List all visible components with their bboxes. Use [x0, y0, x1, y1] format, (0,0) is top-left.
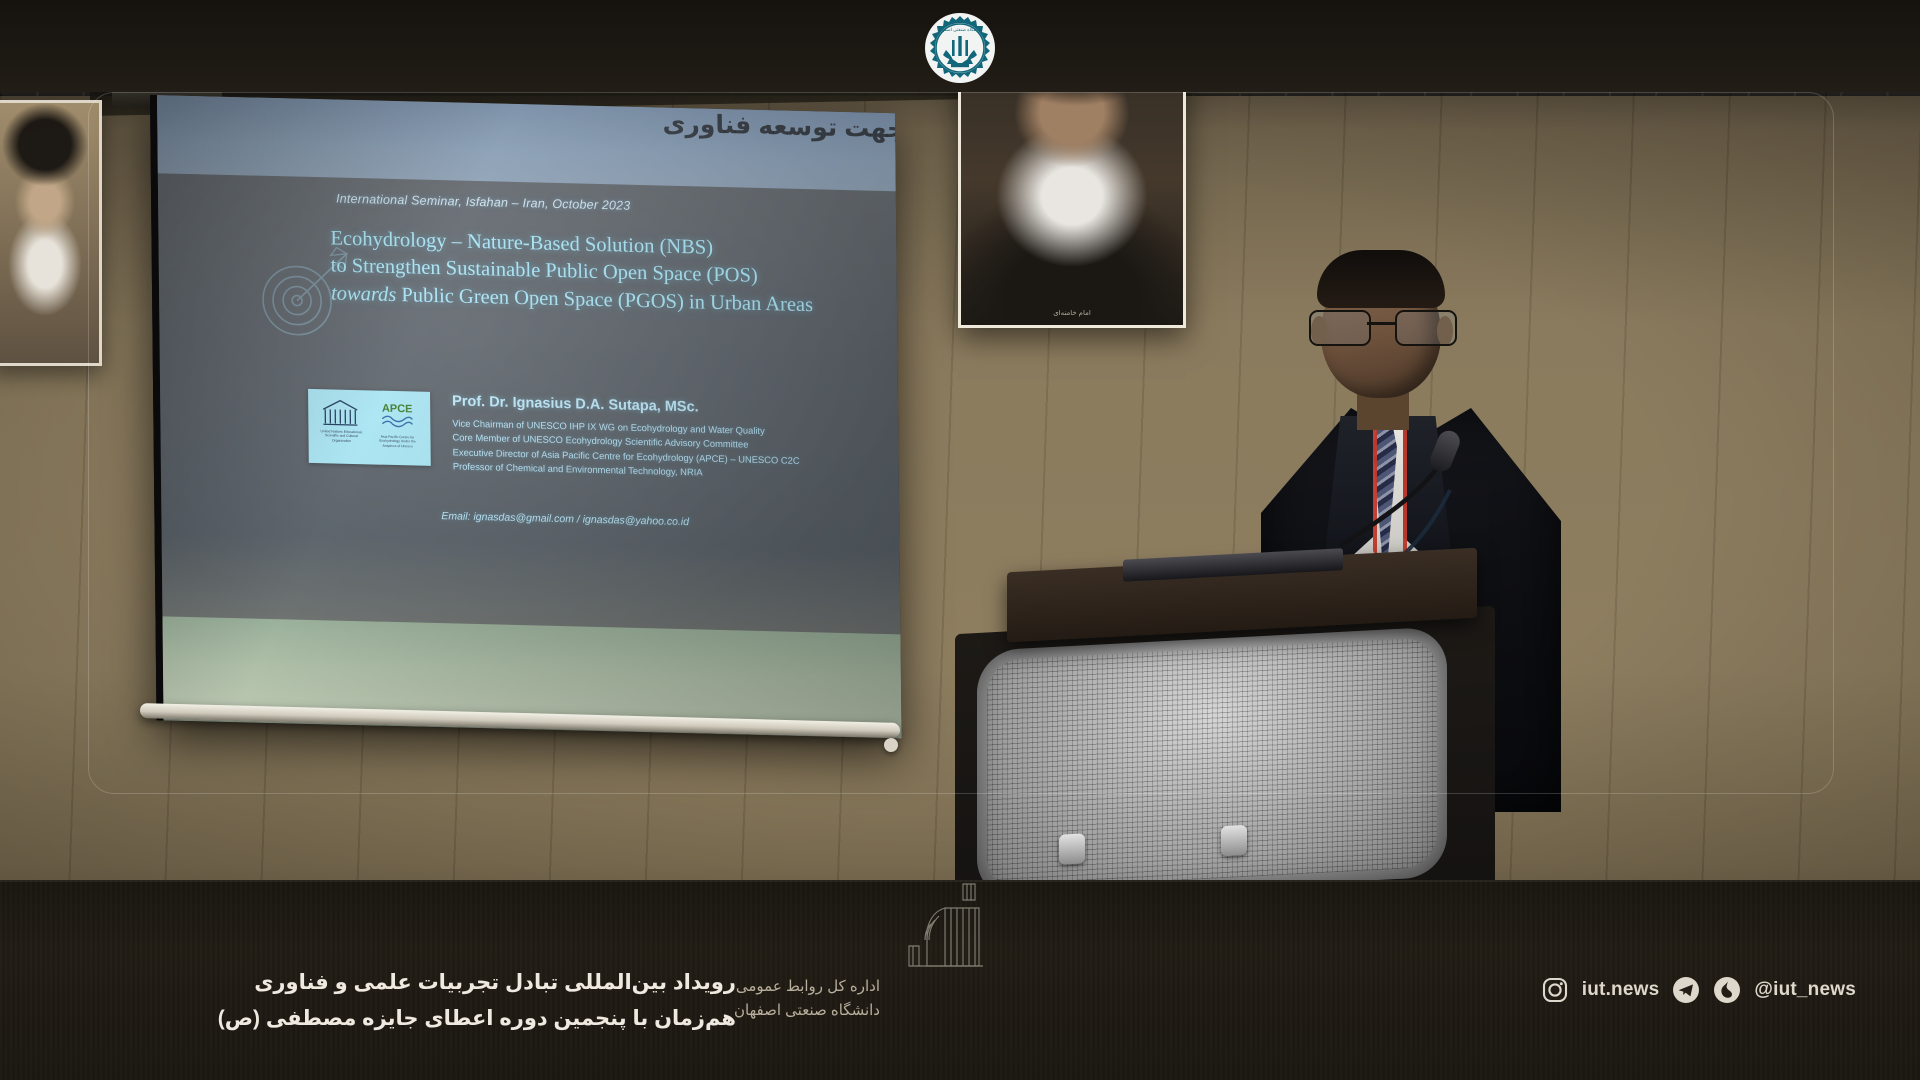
- eyeglass-lens-right: [1395, 310, 1457, 346]
- instagram-handle[interactable]: iut.news: [1582, 979, 1660, 1001]
- podium-mesh-panel: [977, 626, 1447, 901]
- org-line-2: دانشگاه صنعتی اصفهان: [640, 999, 880, 1023]
- eyeglass-lens-left: [1309, 310, 1371, 346]
- unesco-logo-caption: United Nations Educational, Scientific a…: [316, 429, 366, 443]
- apce-logo: APCE Asia Pacific Centre for Ecohydrolog…: [372, 398, 423, 457]
- podium-fastener-right: [1221, 825, 1247, 856]
- unesco-logo: United Nations Educational, Scientific a…: [316, 397, 367, 456]
- slide-email: Email: ignasdas@gmail.com / ignasdas@yah…: [441, 510, 689, 528]
- isfahan-university-of-technology-emblem: دانشگاه صنعتی اصفهان: [924, 12, 996, 84]
- podium-fastener-left: [1059, 833, 1085, 864]
- bale-handle[interactable]: @iut_news: [1754, 979, 1856, 1001]
- telegram-icon[interactable]: [1672, 976, 1700, 1004]
- org-line-1: اداره کل روابط عمومی: [640, 975, 880, 999]
- projection-screen-pull-knob: [884, 738, 898, 752]
- portrait-left-image: [0, 103, 99, 363]
- slide-surface: جهت توسعه فناوری International Seminar, …: [157, 95, 902, 738]
- slide-presenter-name: Prof. Dr. Ignasius D.A. Sutapa, MSc.: [452, 393, 699, 415]
- bale-icon[interactable]: [1713, 976, 1741, 1004]
- social-handles[interactable]: iut.news @iut_news: [1541, 976, 1856, 1004]
- svg-text:دانشگاه صنعتی اصفهان: دانشگاه صنعتی اصفهان: [938, 26, 983, 33]
- instagram-icon[interactable]: [1541, 976, 1569, 1004]
- chehel-sotoun-line-art-watermark: [905, 880, 983, 970]
- banner-organization: اداره کل روابط عمومی دانشگاه صنعتی اصفها…: [640, 975, 880, 1023]
- apce-logo-caption: Asia Pacific Centre for Ecohydrology Und…: [372, 434, 422, 448]
- svg-text:APCE: APCE: [382, 403, 413, 416]
- slide-content: International Seminar, Isfahan – Iran, O…: [158, 173, 901, 634]
- portrait-imam-khomeini: [0, 100, 102, 366]
- slide-credentials: Vice Chairman of UNESCO IHP IX WG on Eco…: [452, 416, 800, 482]
- slide-title-emphasis: towards: [331, 282, 397, 306]
- speaker-eyeglasses: [1307, 310, 1455, 344]
- speaker-hair: [1317, 250, 1445, 308]
- eyeglass-bridge: [1367, 322, 1395, 325]
- slide-eyebrow: International Seminar, Isfahan – Iran, O…: [336, 192, 631, 213]
- portrait-right-caption: امام خامنه‌ای: [961, 309, 1183, 317]
- partner-logos: United Nations Educational, Scientific a…: [308, 389, 431, 466]
- slide-title: Ecohydrology – Nature-Based Solution (NB…: [330, 225, 861, 320]
- projection-screen: جهت توسعه فناوری International Seminar, …: [150, 95, 902, 738]
